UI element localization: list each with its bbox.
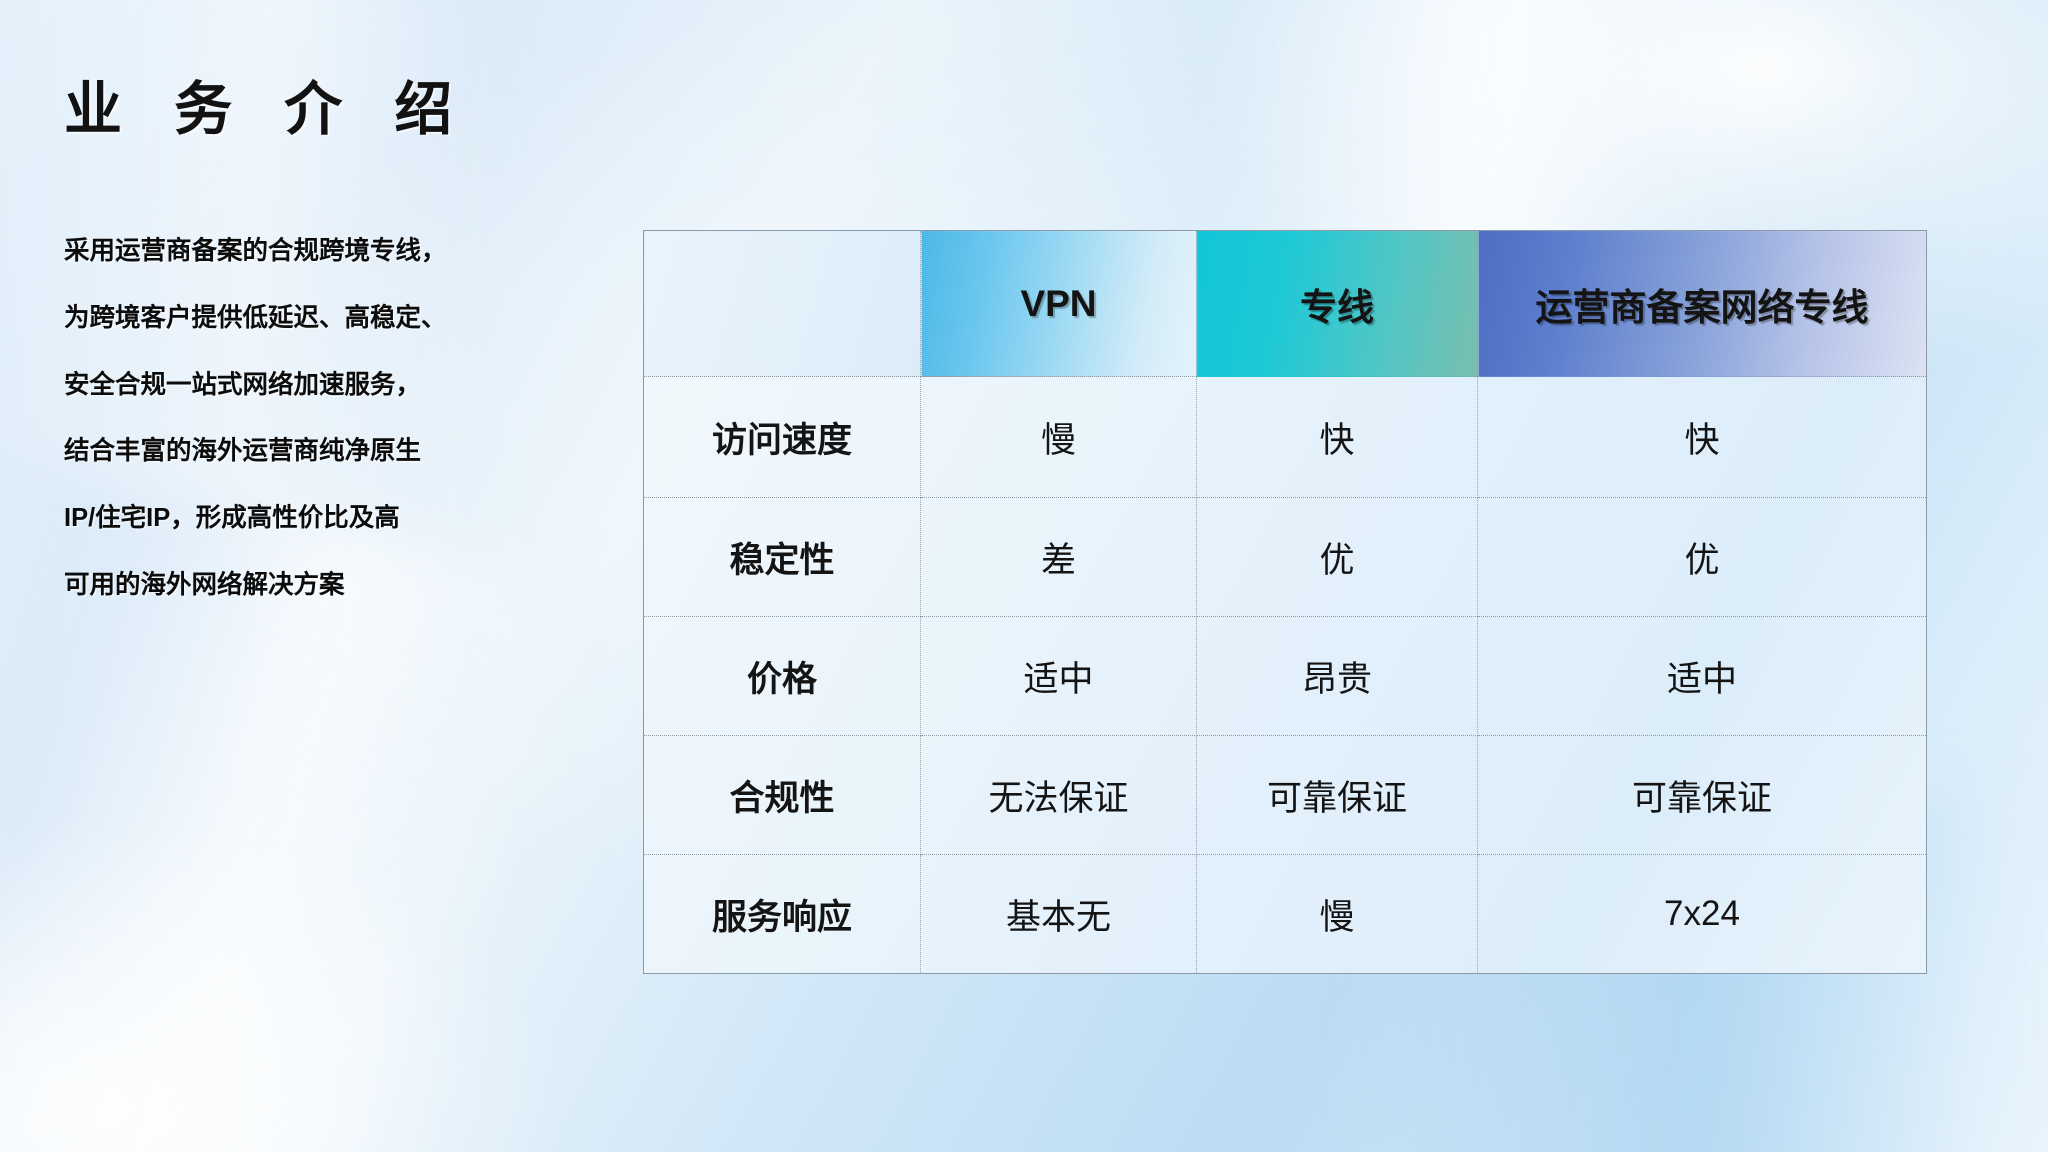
slide-root: 业 务 介 绍 采用运营商备案的合规跨境专线， 为跨境客户提供低延迟、高稳定、 … <box>0 0 2048 1152</box>
cell-dedicated-line: 昂贵 <box>1197 617 1478 736</box>
cell-vpn: 基本无 <box>921 855 1197 974</box>
table-row: 服务响应 基本无 慢 7x24 <box>644 855 1927 974</box>
cell-dedicated-line: 优 <box>1197 498 1478 617</box>
table-row: 价格 适中 昂贵 适中 <box>644 617 1927 736</box>
table-row: 合规性 无法保证 可靠保证 可靠保证 <box>644 736 1927 855</box>
column-header-carrier-registered-line: 运营商备案网络专线 <box>1478 231 1927 377</box>
description-line: IP/住宅IP，形成高性价比及高 <box>64 505 624 532</box>
table-row: 访问速度 慢 快 快 <box>644 377 1927 498</box>
description-block: 采用运营商备案的合规跨境专线， 为跨境客户提供低延迟、高稳定、 安全合规一站式网… <box>64 238 624 599</box>
row-label: 稳定性 <box>644 498 921 617</box>
cell-dedicated-line: 慢 <box>1197 855 1478 974</box>
cell-vpn: 慢 <box>921 377 1197 498</box>
cell-carrier-registered-line: 优 <box>1478 498 1927 617</box>
description-line: 为跨境客户提供低延迟、高稳定、 <box>64 305 624 332</box>
column-header-vpn: VPN <box>921 231 1197 377</box>
cell-vpn: 适中 <box>921 617 1197 736</box>
page-title: 业 务 介 绍 <box>64 62 470 146</box>
row-label: 价格 <box>644 617 921 736</box>
description-line: 采用运营商备案的合规跨境专线， <box>64 238 624 265</box>
description-line: 安全合规一站式网络加速服务， <box>64 372 624 399</box>
description-line: 可用的海外网络解决方案 <box>64 572 624 599</box>
cell-dedicated-line: 可靠保证 <box>1197 736 1478 855</box>
cell-dedicated-line: 快 <box>1197 377 1478 498</box>
cell-carrier-registered-line: 7x24 <box>1478 855 1927 974</box>
table-header-row: VPN 专线 运营商备案网络专线 <box>644 231 1927 377</box>
row-label: 服务响应 <box>644 855 921 974</box>
cell-vpn: 差 <box>921 498 1197 617</box>
table-row: 稳定性 差 优 优 <box>644 498 1927 617</box>
cell-vpn: 无法保证 <box>921 736 1197 855</box>
comparison-table-wrapper: VPN 专线 运营商备案网络专线 访问速度 慢 快 快 稳定性 差 优 优 <box>643 230 1926 974</box>
comparison-table: VPN 专线 运营商备案网络专线 访问速度 慢 快 快 稳定性 差 优 优 <box>643 230 1927 974</box>
row-label: 合规性 <box>644 736 921 855</box>
cell-carrier-registered-line: 适中 <box>1478 617 1927 736</box>
cell-carrier-registered-line: 可靠保证 <box>1478 736 1927 855</box>
cell-carrier-registered-line: 快 <box>1478 377 1927 498</box>
table-body: 访问速度 慢 快 快 稳定性 差 优 优 价格 适中 昂贵 适中 <box>644 377 1927 974</box>
description-line: 结合丰富的海外运营商纯净原生 <box>64 438 624 465</box>
table-header: VPN 专线 运营商备案网络专线 <box>644 231 1927 377</box>
column-header-dedicated-line: 专线 <box>1197 231 1478 377</box>
row-label: 访问速度 <box>644 377 921 498</box>
column-header-blank <box>644 231 921 377</box>
